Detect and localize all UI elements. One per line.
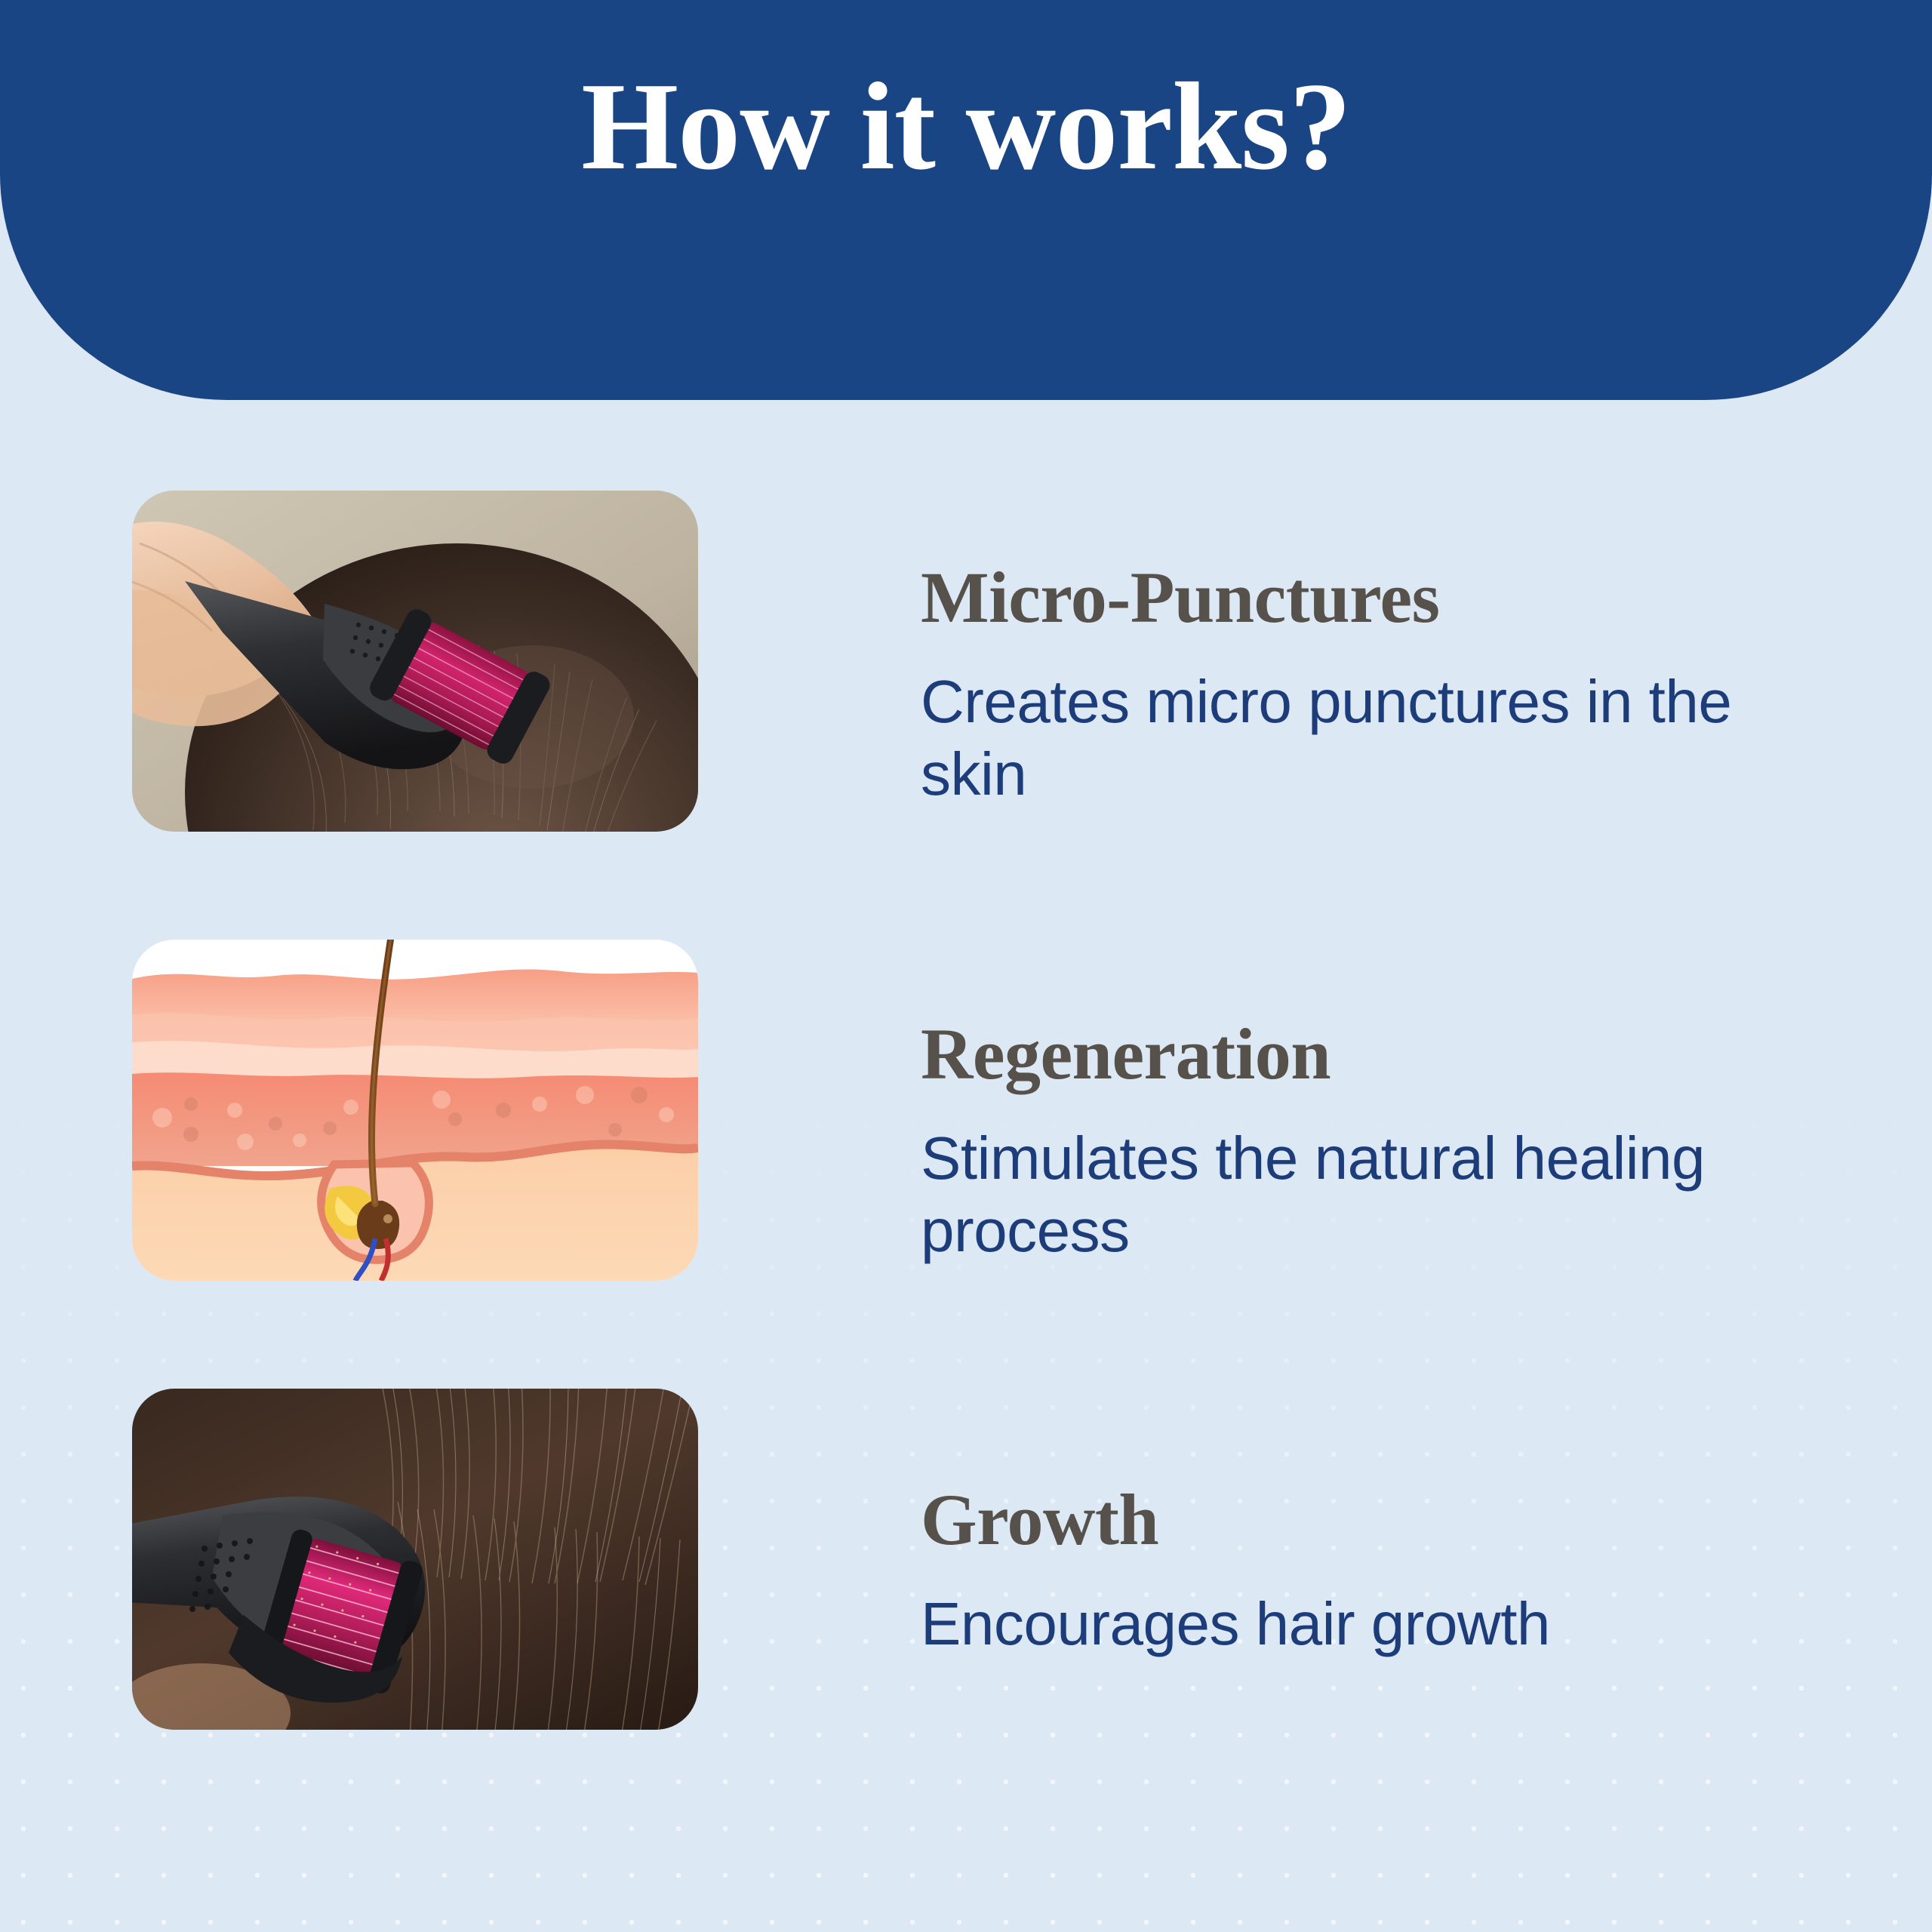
- step-image-micro-punctures: [132, 491, 698, 832]
- step-description: Creates micro punctures in the skin: [921, 666, 1766, 811]
- step-title: Regeneration: [921, 1017, 1841, 1092]
- step-image-regeneration: [132, 940, 698, 1281]
- step-description: Encourages hair growth: [921, 1588, 1766, 1660]
- step-title: Growth: [921, 1482, 1841, 1558]
- header-banner: How it works?: [0, 0, 1932, 400]
- list-item: Growth Encourages hair growth: [0, 1389, 1932, 1730]
- derma-roller-closeup-icon: [132, 1389, 698, 1730]
- step-copy: Growth Encourages hair growth: [698, 1389, 1932, 1660]
- infographic-page: How it works?: [0, 0, 1932, 1932]
- step-description: Stimulates the natural healing process: [921, 1122, 1766, 1267]
- step-image-growth: [132, 1389, 698, 1730]
- list-item: Regeneration Stimulates the natural heal…: [0, 940, 1932, 1281]
- step-title: Micro-Punctures: [921, 560, 1841, 635]
- list-item: Micro-Punctures Creates micro punctures …: [0, 491, 1932, 832]
- step-copy: Regeneration Stimulates the natural heal…: [698, 940, 1932, 1267]
- page-title: How it works?: [581, 63, 1351, 189]
- steps-list: Micro-Punctures Creates micro punctures …: [0, 491, 1932, 1730]
- step-copy: Micro-Punctures Creates micro punctures …: [698, 491, 1932, 811]
- skin-cross-section-icon: [132, 940, 698, 1281]
- derma-roller-on-scalp-icon: [132, 491, 698, 832]
